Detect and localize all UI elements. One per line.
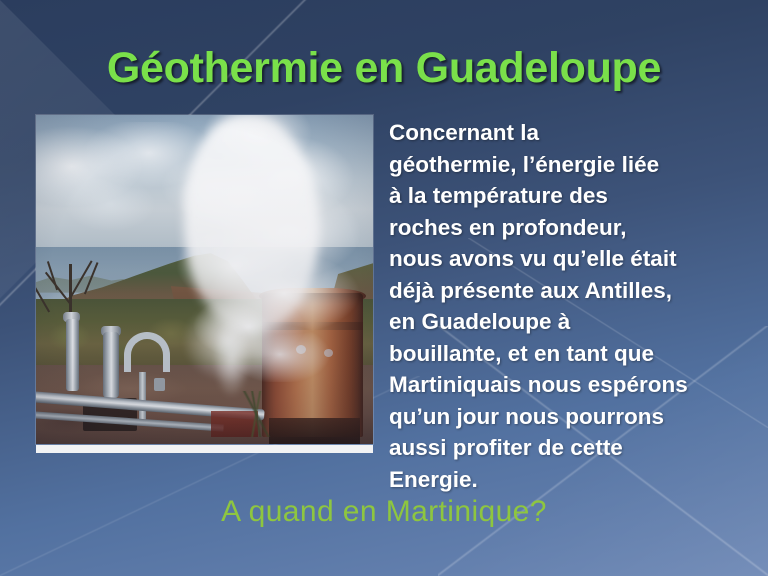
body-line: Martiniquais nous espérons	[389, 369, 741, 401]
body-line: géothermie, l’énergie liée	[389, 149, 741, 181]
body-line: en Guadeloupe à	[389, 306, 741, 338]
body-line: Energie.	[389, 464, 741, 496]
presentation-slide: Géothermie en Guadeloupe	[0, 0, 768, 576]
body-line: déjà présente aux Antilles,	[389, 275, 741, 307]
image-underbar	[36, 445, 373, 453]
slide-image-frame	[36, 115, 373, 453]
photo-vignette	[36, 115, 373, 444]
slide-body-text: Concernant la géothermie, l’énergie liée…	[389, 117, 741, 495]
slide-caption: A quand en Martinique?	[0, 495, 768, 529]
slide-title: Géothermie en Guadeloupe	[0, 44, 768, 93]
body-line: bouillante, et en tant que	[389, 338, 741, 370]
body-line: nous avons vu qu’elle était	[389, 243, 741, 275]
geothermal-plant-photo	[36, 115, 373, 444]
body-line: Concernant la	[389, 117, 741, 149]
body-line: roches en profondeur,	[389, 212, 741, 244]
body-line: qu’un jour nous pourrons	[389, 401, 741, 433]
body-line: à la température des	[389, 180, 741, 212]
body-line: aussi profiter de cette	[389, 432, 741, 464]
